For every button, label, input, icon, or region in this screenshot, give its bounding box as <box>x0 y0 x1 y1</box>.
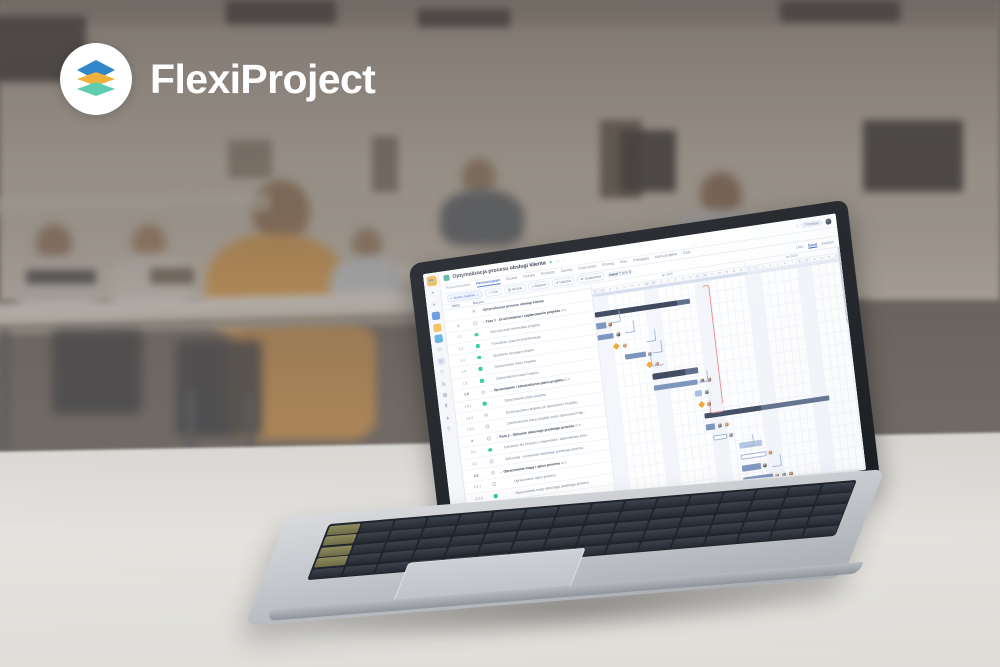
assignee-avatar[interactable] <box>615 331 622 338</box>
cell-wbs: 2.2 <box>462 460 488 468</box>
assignee-avatar[interactable] <box>703 389 710 396</box>
task-grid: WBS Nazwa ▣Optymalizacja procesu obsługi… <box>443 284 618 528</box>
gantt-bar[interactable] <box>596 322 606 329</box>
cell-wbs: 2.3 <box>463 471 489 479</box>
cell-wbs: 2.3.1 <box>464 483 490 491</box>
team-icon[interactable]: ♜ <box>442 402 451 411</box>
task-badge: IC 3 <box>564 377 570 382</box>
assignee-avatar[interactable] <box>716 422 723 429</box>
assignee-avatar[interactable] <box>728 432 735 439</box>
cell-wbs: 1.3 <box>449 356 475 364</box>
assignee-avatar[interactable] <box>706 377 713 384</box>
project-square-icon <box>443 274 450 281</box>
gantt-bar[interactable] <box>597 333 614 341</box>
status-dot-open <box>490 459 494 463</box>
laptop-device: ● ● ◎ ▤ ▽ ◍ ▦ ♜ ▲ ⚲ Optymalizacja proces… <box>0 0 1000 667</box>
zoom-option-m[interactable]: M <box>622 271 625 275</box>
status-dot-done <box>483 402 487 406</box>
gantt-bar[interactable] <box>713 433 727 440</box>
help-button[interactable]: ? Pomoc <box>801 219 823 228</box>
task-badge: IC 6 <box>575 423 581 428</box>
progress-fill <box>706 423 715 430</box>
status-dot-done <box>479 367 483 371</box>
tab-czas-pracy[interactable]: Czas pracy <box>578 264 596 272</box>
progress-fill <box>742 464 761 472</box>
flexiproject-mark-icon[interactable] <box>426 275 437 286</box>
assignee-avatar[interactable] <box>647 350 654 357</box>
view-kanban[interactable]: Kanban <box>821 239 834 246</box>
tab-budzet[interactable]: Budżet <box>506 276 518 283</box>
task-badge: IC 2 <box>561 460 567 465</box>
assignee-avatar[interactable] <box>621 342 628 349</box>
tab-zasoby[interactable]: Zasoby <box>561 268 573 275</box>
projects-icon[interactable]: ● <box>430 300 439 309</box>
assignee-avatar[interactable] <box>654 361 661 368</box>
tab-produkty[interactable]: Produkty <box>541 270 556 278</box>
assignee-avatar[interactable] <box>699 378 706 385</box>
progress-fill <box>596 322 606 329</box>
gantt-timeline: lip 2025sie 2025 11121314151617181920212… <box>591 247 866 506</box>
gear-icon: ⚙ <box>580 277 583 281</box>
calendar-icon[interactable]: ▦ <box>441 391 450 400</box>
assignee-avatar[interactable] <box>767 450 774 457</box>
filter-icon: ▽ <box>488 291 491 295</box>
filter-button[interactable]: ▽ Filtr <box>485 287 502 297</box>
status-dot-open <box>481 390 485 394</box>
link-icon[interactable]: ⚲ <box>445 425 454 434</box>
gantt-bar[interactable] <box>742 464 761 472</box>
progress-fill <box>597 333 614 341</box>
status-dot-done <box>494 494 498 498</box>
timeline-bars <box>593 261 866 506</box>
chevron-down-icon: ⌄ <box>500 469 503 473</box>
settings-label: Ustawienia <box>585 274 602 280</box>
avatar[interactable] <box>824 216 833 225</box>
view-lista[interactable]: Lista <box>796 244 804 250</box>
zoom-option-r[interactable]: R <box>629 270 632 274</box>
chevron-down-icon: ⌄ <box>482 320 485 324</box>
tab-plan[interactable]: Plan <box>620 260 628 267</box>
cell-wbs: 1.5 <box>452 379 478 387</box>
cell-wbs: 1 <box>445 322 471 330</box>
status-dot-done <box>476 344 480 348</box>
help-label: Pomoc <box>807 220 819 226</box>
download-icon: ⤓ <box>532 284 534 288</box>
tab-przeglady[interactable]: Przeglądy <box>633 256 649 264</box>
zoom-level-group[interactable]: Dzień T M K R <box>607 269 634 279</box>
zoom-current: Dzień <box>609 272 618 277</box>
portfolio-icon[interactable] <box>431 312 440 321</box>
star-icon[interactable]: ☆ <box>555 258 559 263</box>
status-dot-open <box>484 413 488 417</box>
status-dot-open <box>492 482 496 486</box>
tab-czat[interactable]: Czat <box>683 250 691 257</box>
assignee-avatar[interactable] <box>723 421 730 428</box>
assignee-avatar[interactable] <box>706 400 713 407</box>
status-badge[interactable]: ▼ <box>548 259 553 265</box>
keyboard-key[interactable] <box>770 528 805 540</box>
gantt-bar[interactable] <box>706 423 715 430</box>
milestone-marker[interactable] <box>646 361 653 368</box>
keyboard-key[interactable] <box>803 525 838 537</box>
tasks-icon[interactable] <box>432 323 441 332</box>
cell-wbs: 2 <box>459 437 485 445</box>
plus-icon: + <box>450 296 452 300</box>
chevron-down-icon: ⌄ <box>476 292 479 296</box>
cell-wbs: 1.2 <box>448 345 474 353</box>
assignee-avatar[interactable] <box>762 462 769 469</box>
progress-fill <box>625 352 646 360</box>
status-dot-done <box>480 379 484 383</box>
cell-wbs: 2.1 <box>460 448 486 456</box>
cell-wbs: 1.6.3 <box>458 425 484 433</box>
gantt-bar[interactable] <box>695 390 703 396</box>
status-dot-open <box>485 425 489 429</box>
keyboard-key[interactable] <box>704 533 739 545</box>
settings-icon[interactable]: ▲ <box>443 413 452 422</box>
status-dot-open <box>487 436 491 440</box>
tab-ryzyka[interactable]: Ryzyka <box>523 273 535 280</box>
milestone-marker[interactable] <box>698 400 705 407</box>
home-icon[interactable]: ⌂ <box>796 223 799 228</box>
chevron-down-icon: ⌄ <box>490 389 493 393</box>
reports-icon[interactable] <box>434 334 443 343</box>
cell-wbs: 1.6 <box>453 391 479 399</box>
new-task-label: Nowe zadanie <box>454 293 476 300</box>
cell-wbs: 1.4 <box>451 368 477 376</box>
status-dot-done <box>477 356 481 360</box>
gantt-bar[interactable] <box>740 440 763 449</box>
keyboard-key[interactable] <box>638 539 673 551</box>
status-dot-done <box>474 333 478 337</box>
resources-icon[interactable]: ▤ <box>436 357 445 366</box>
cell-wbs: 1.6.2 <box>456 414 482 422</box>
zoom-option-k[interactable]: K <box>625 270 628 274</box>
budget-icon[interactable]: ◎ <box>435 345 444 354</box>
assignee-avatar[interactable] <box>607 321 614 328</box>
ellipsis-icon[interactable]: ⋯ <box>562 257 567 263</box>
task-badge: IC 6 <box>561 308 567 313</box>
status-dot-open <box>491 471 495 475</box>
gantt-bar[interactable] <box>625 352 646 360</box>
history-label: Historia <box>559 279 571 285</box>
risks-icon[interactable]: ▽ <box>438 368 447 377</box>
chevron-down-icon: ⌄ <box>496 435 499 439</box>
filter-label: Filtr <box>492 290 498 295</box>
views-label: Widoki <box>512 286 523 291</box>
gantt-bar[interactable] <box>741 451 766 460</box>
cell-wbs <box>444 312 470 316</box>
status-dot-done <box>488 448 492 452</box>
keyboard-key[interactable] <box>605 542 640 554</box>
keyboard-key[interactable] <box>309 567 344 579</box>
status-dot-open <box>473 321 477 325</box>
keyboard-key[interactable] <box>671 536 706 548</box>
timeline-body <box>593 261 866 506</box>
cell-wbs: 1.6.1 <box>455 402 481 410</box>
layout-icon: ▤ <box>507 288 511 292</box>
dashboard-icon[interactable]: ● <box>428 289 437 298</box>
tab-scoring[interactable]: Scoring <box>602 262 615 269</box>
cell-wbs: 1.1 <box>447 333 473 341</box>
documents-icon[interactable]: ◍ <box>439 379 448 388</box>
history-icon: ↺ <box>555 281 558 285</box>
export-label: Eksport <box>534 282 546 288</box>
milestone-marker[interactable] <box>613 343 620 350</box>
keyboard-key[interactable] <box>737 531 772 543</box>
keyboard-key[interactable] <box>342 564 377 576</box>
view-gantt[interactable]: Gantt <box>808 242 818 248</box>
